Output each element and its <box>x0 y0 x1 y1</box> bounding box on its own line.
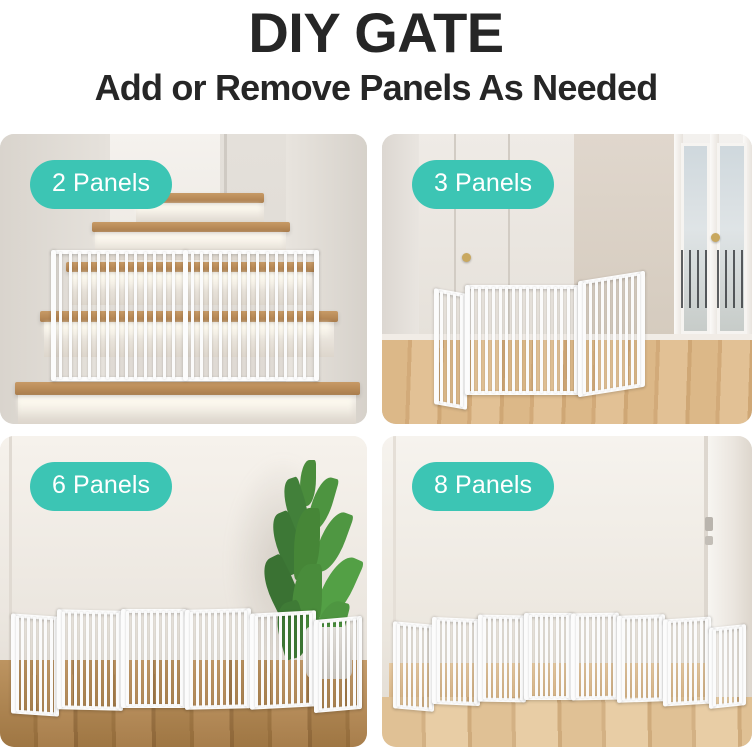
header: DIY GATE Add or Remove Panels As Needed <box>0 0 752 134</box>
panel-cell-6-panels: 6 Panels <box>0 430 375 747</box>
page-subtitle: Add or Remove Panels As Needed <box>95 64 658 112</box>
gate-bars <box>393 621 434 712</box>
gate-bars <box>57 609 123 710</box>
safety-gate-8-panels-seg-5 <box>571 613 619 701</box>
safety-gate-3-panels-center <box>465 285 580 395</box>
panel-image-grid: 2 Panels <box>0 134 752 747</box>
safety-gate-2-panels <box>51 250 319 381</box>
balcony-railing-left <box>681 250 711 308</box>
safety-gate-6-panels-seg-5 <box>250 610 316 710</box>
badge-3-panels: 3 Panels <box>412 160 554 209</box>
gate-bars <box>51 250 319 381</box>
gate-bars <box>314 616 362 713</box>
safety-gate-8-panels-seg-7 <box>663 616 711 706</box>
wood-floor <box>382 697 752 747</box>
gate-bars <box>432 617 480 706</box>
panel-cell-2-panels: 2 Panels <box>0 134 375 430</box>
badge-8-panels: 8 Panels <box>412 462 554 511</box>
stair-tread-2 <box>92 222 290 232</box>
gate-bars <box>663 616 711 706</box>
badge-2-panels: 2 Panels <box>30 160 172 209</box>
gate-bars <box>465 285 580 395</box>
safety-gate-6-panels-seg-6 <box>314 616 362 713</box>
safety-gate-6-panels-seg-4 <box>185 608 251 709</box>
safety-gate-8-panels-seg-1 <box>393 621 434 712</box>
wide-wall-six-panel-gate-photo: 6 Panels <box>0 436 367 747</box>
safety-gate-3-panels-left-wing <box>434 288 467 410</box>
page-title: DIY GATE <box>248 2 503 64</box>
safety-gate-3-panels-right-wing <box>578 271 645 398</box>
stair-glow-5 <box>18 398 352 418</box>
door-handle <box>705 517 713 531</box>
gate-bars <box>185 608 251 709</box>
panel-cell-8-panels: 8 Panels <box>375 430 752 747</box>
gate-bars <box>434 288 467 410</box>
door-lock <box>705 536 713 545</box>
staircase-gate-photo: 2 Panels <box>0 134 367 424</box>
gate-bars <box>617 614 665 703</box>
safety-gate-8-panels-seg-3 <box>478 614 526 702</box>
gate-bars <box>524 613 572 700</box>
balcony-railing-right <box>717 250 747 308</box>
safety-gate-6-panels-seg-1 <box>11 613 59 716</box>
gate-bars <box>571 613 619 701</box>
gate-bars <box>250 610 316 710</box>
stair-glow-2 <box>95 234 282 249</box>
gate-bars <box>578 271 645 398</box>
gate-bars <box>709 624 746 709</box>
gate-bars <box>11 613 59 716</box>
window-latch <box>711 233 720 242</box>
safety-gate-6-panels-seg-2 <box>57 609 123 710</box>
badge-6-panels: 6 Panels <box>30 462 172 511</box>
safety-gate-8-panels-seg-2 <box>432 617 480 706</box>
safety-gate-8-panels-seg-8 <box>709 624 746 709</box>
safety-gate-8-panels-seg-4 <box>524 613 572 700</box>
wide-wall-eight-panel-gate-photo: 8 Panels <box>382 436 752 747</box>
gate-bars <box>478 614 526 702</box>
gate-bars <box>121 609 187 709</box>
panel-cell-3-panels: 3 Panels <box>375 134 752 430</box>
safety-gate-8-panels-seg-6 <box>617 614 665 703</box>
safety-gate-6-panels-seg-3 <box>121 609 187 709</box>
stair-tread-5 <box>15 382 360 395</box>
door-knob <box>462 253 471 262</box>
room-corner-gate-photo: 3 Panels <box>382 134 752 424</box>
